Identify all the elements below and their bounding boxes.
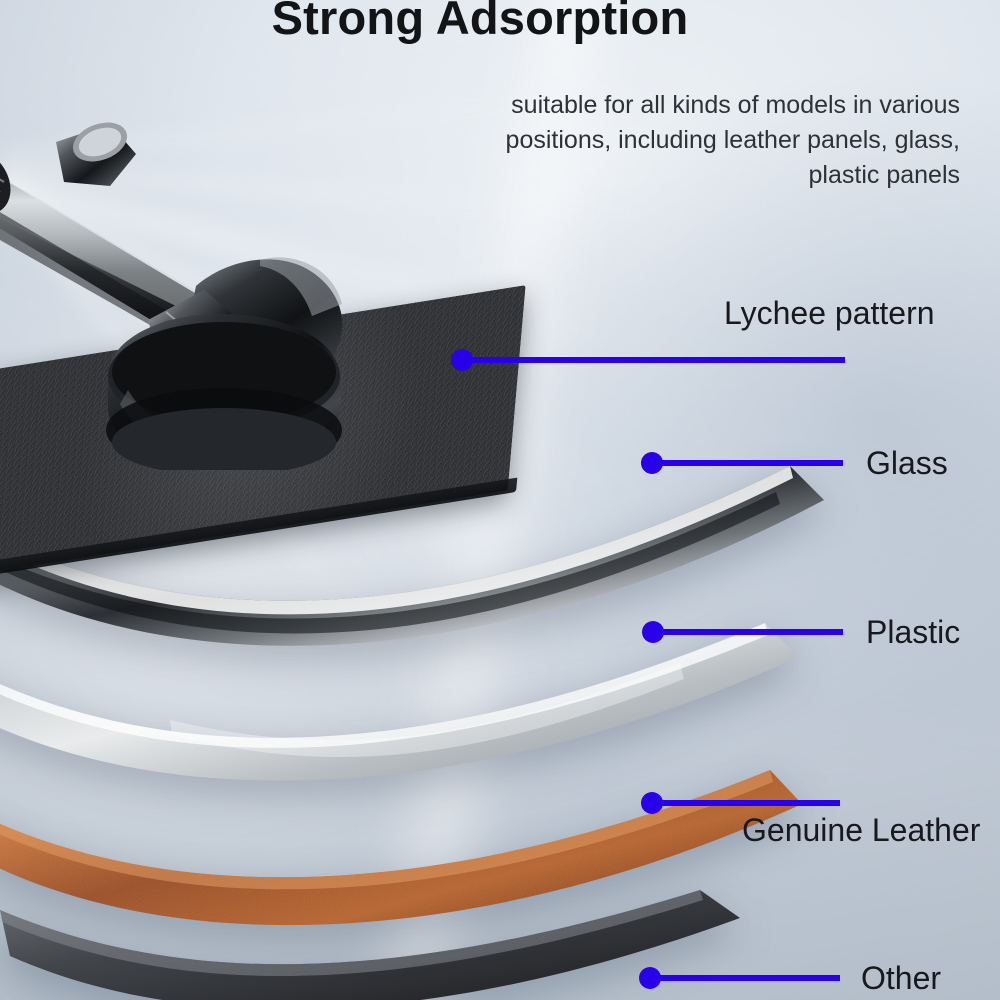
callout-label-genuine-leather: Genuine Leather: [742, 812, 980, 849]
callout-label-other: Other: [861, 960, 941, 997]
suction-cup-base: [106, 314, 342, 470]
callout-line-other: [650, 975, 840, 981]
product-feature-image: Lychee pattern Glass Plastic Genuine Lea…: [0, 0, 1000, 1000]
page-subtitle: suitable for all kinds of models in vari…: [400, 88, 960, 193]
page-title: Strong Adsorption: [0, 0, 960, 45]
suction-cup-phone-mount: [0, 90, 420, 450]
subtitle-line-3: plastic panels: [400, 158, 960, 193]
callout-line-lychee-pattern: [462, 357, 845, 363]
knurled-lock-knob-upper: [56, 116, 136, 186]
callout-label-plastic: Plastic: [866, 614, 960, 651]
subtitle-line-2: positions, including leather panels, gla…: [400, 123, 960, 158]
callout-line-plastic: [653, 629, 843, 635]
callout-line-glass: [652, 460, 843, 466]
subtitle-line-1: suitable for all kinds of models in vari…: [400, 88, 960, 123]
callout-label-lychee-pattern: Lychee pattern: [724, 295, 935, 332]
callout-line-genuine-leather: [652, 800, 840, 806]
callout-label-glass: Glass: [866, 445, 948, 482]
